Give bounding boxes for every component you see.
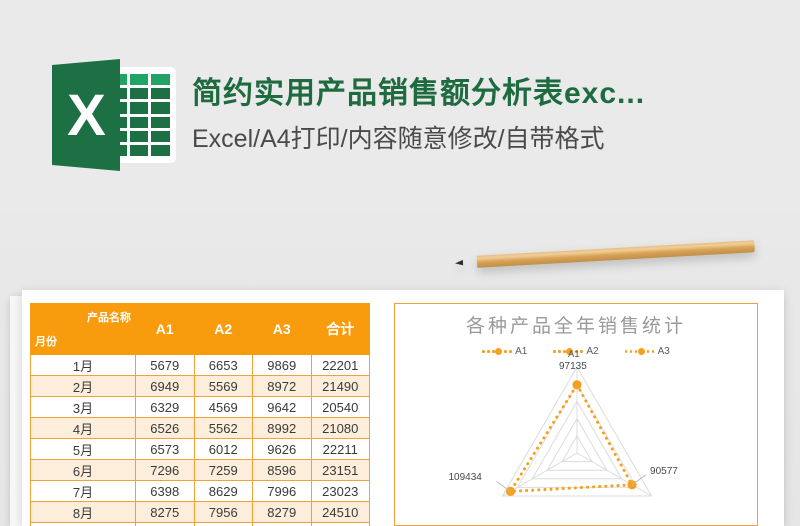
sales-table: 产品名称 月份 A1 A2 A3 合计 1月567966539869222012… [30,303,370,526]
cell-A3: 8972 [253,376,312,397]
cell-A1: 6949 [136,376,195,397]
legend-marker-icon [625,348,655,356]
cell-month: 1月 [31,355,136,376]
cell-A3: 8279 [253,502,312,523]
banner-header: X 简约实用产品销售额分析表exc... Excel/A4打印/内容随意修改/自… [0,0,800,230]
sales-table-wrapper: 产品名称 月份 A1 A2 A3 合计 1月567966539869222012… [30,303,370,526]
cell-A1: 6329 [136,397,195,418]
cell-A1: 6526 [136,418,195,439]
banner-text-block: 简约实用产品销售额分析表exc... Excel/A4打印/内容随意修改/自带格… [192,75,645,156]
cell-month: 9月 [31,523,136,526]
radar-svg [395,357,758,517]
cell-A2: 8069 [194,523,253,526]
table-row: 9月96328069932627027 [31,523,370,526]
cell-A2: 6012 [194,439,253,460]
cell-A2: 7956 [194,502,253,523]
table-row: 1月56796653986922201 [31,355,370,376]
radar-value-a3: 109434 [449,472,482,483]
cell-A3: 9326 [253,523,312,526]
table-row: 8月82757956827924510 [31,502,370,523]
cell-month: 6月 [31,460,136,481]
legend-marker-icon [482,348,512,356]
cell-合计: 20540 [311,397,370,418]
column-header-a3: A3 [253,304,312,355]
cell-month: 8月 [31,502,136,523]
table-corner-cell: 产品名称 月份 [31,304,136,355]
legend-label-a2: A2 [586,346,598,357]
cell-合计: 27027 [311,523,370,526]
table-row: 7月63988629799623023 [31,481,370,502]
cell-A3: 9642 [253,397,312,418]
cell-A2: 8629 [194,481,253,502]
corner-row-label: 月份 [35,333,57,349]
cell-A1: 8275 [136,502,195,523]
cell-A2: 5569 [194,376,253,397]
cell-A1: 7296 [136,460,195,481]
excel-logo-letter: X [52,59,120,171]
legend-item-a3[interactable]: A3 [625,346,670,357]
cell-A3: 8992 [253,418,312,439]
legend-label-a1: A1 [515,346,527,357]
page-title: 简约实用产品销售额分析表exc... [192,75,645,113]
cell-A2: 6653 [194,355,253,376]
page-subtitle: Excel/A4打印/内容随意修改/自带格式 [192,124,645,155]
cell-合计: 24510 [311,502,370,523]
cell-合计: 22201 [311,355,370,376]
cell-合计: 21080 [311,418,370,439]
cell-A3: 9869 [253,355,312,376]
cell-month: 5月 [31,439,136,460]
legend-label-a3: A3 [658,346,670,357]
radar-category-a1: A1 [568,349,580,360]
table-row: 5月65736012962622211 [31,439,370,460]
table-header-row: 产品名称 月份 A1 A2 A3 合计 [31,304,370,355]
cell-合计: 23023 [311,481,370,502]
cell-A3: 7996 [253,481,312,502]
radar-value-a1: 97135 [559,361,587,372]
cell-A2: 4569 [194,397,253,418]
sales-table-body: 1月567966539869222012月694955698972214903月… [31,355,370,526]
corner-col-label: 产品名称 [87,309,131,325]
cell-合计: 21490 [311,376,370,397]
cell-month: 2月 [31,376,136,397]
radar-value-a2: 90577 [650,466,678,477]
screenshot-root: X 简约实用产品销售额分析表exc... Excel/A4打印/内容随意修改/自… [0,0,800,526]
cell-A3: 9626 [253,439,312,460]
column-header-a2: A2 [194,304,253,355]
cell-合计: 23151 [311,460,370,481]
cell-合计: 22211 [311,439,370,460]
cell-A3: 8596 [253,460,312,481]
table-row: 2月69495569897221490 [31,376,370,397]
sales-table-head: 产品名称 月份 A1 A2 A3 合计 [31,304,370,355]
cell-A1: 5679 [136,355,195,376]
table-row: 3月63294569964220540 [31,397,370,418]
cell-month: 4月 [31,418,136,439]
chart-title: 各种产品全年销售统计 [395,311,757,338]
cell-month: 3月 [31,397,136,418]
column-header-a1: A1 [136,304,195,355]
legend-item-a1[interactable]: A1 [482,346,527,357]
table-row: 4月65265562899221080 [31,418,370,439]
excel-logo-icon: X [52,59,178,171]
cell-A1: 6398 [136,481,195,502]
table-row: 6月72967259859623151 [31,460,370,481]
cell-A2: 7259 [194,460,253,481]
radar-plot-area: A1 97135 90577 109434 [395,357,758,517]
cell-month: 7月 [31,481,136,502]
sales-radar-chart: 各种产品全年销售统计 A1 A2 A3 [394,303,758,526]
cell-A2: 5562 [194,418,253,439]
cell-A1: 9632 [136,523,195,526]
cell-A1: 6573 [136,439,195,460]
column-header-total: 合计 [311,304,370,355]
